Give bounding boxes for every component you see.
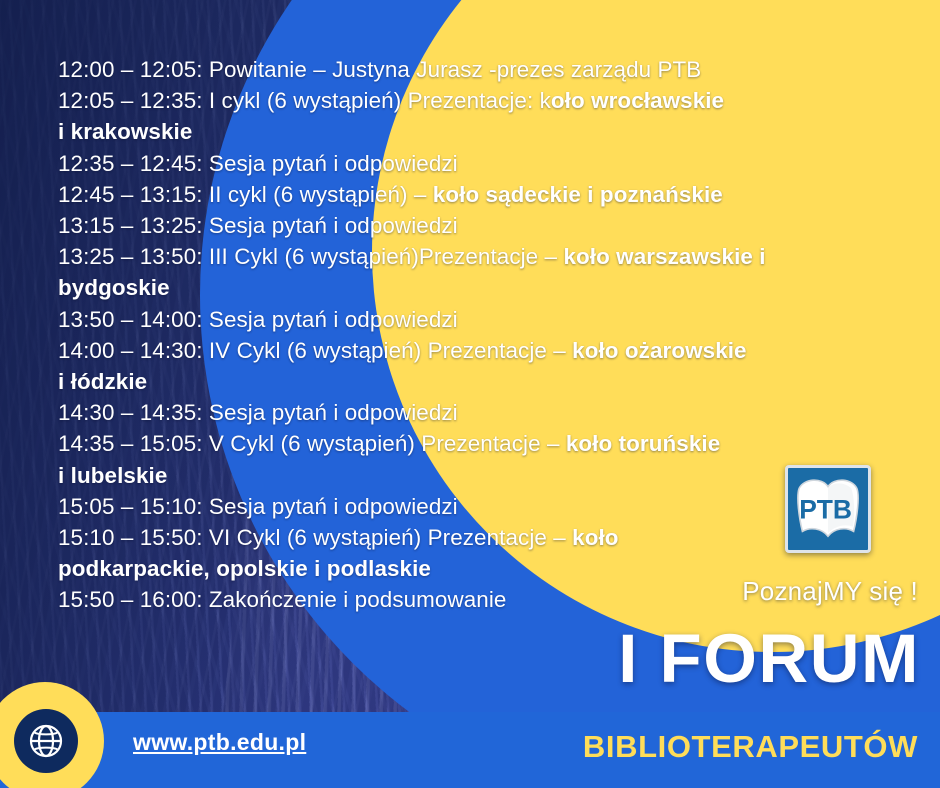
schedule-line: 12:00 – 12:05: Powitanie – Justyna Juras… [58, 54, 903, 85]
schedule-line: i łódzkie [58, 366, 903, 397]
schedule-line: 14:35 – 15:05: V Cykl (6 wystąpień) Prez… [58, 428, 903, 459]
schedule-time: 12:00 – 12:05: [58, 57, 209, 82]
schedule-time: 13:15 – 13:25: [58, 213, 209, 238]
schedule-time: 12:45 – 13:15: [58, 182, 209, 207]
schedule-line: 13:15 – 13:25: Sesja pytań i odpowiedzi [58, 210, 903, 241]
schedule-highlight: bydgoskie [58, 275, 170, 300]
schedule-line: i lubelskie [58, 460, 903, 491]
globe-icon [14, 709, 78, 773]
schedule-highlight: koło ożarowskie [572, 338, 746, 363]
schedule-line: 14:00 – 14:30: IV Cykl (6 wystąpień) Pre… [58, 335, 903, 366]
schedule-time: 15:10 – 15:50: [58, 525, 209, 550]
event-title: I FORUM [618, 624, 920, 693]
schedule-time: 15:05 – 15:10: [58, 494, 209, 519]
schedule-description: III Cykl (6 wystąpień)Prezentacje – [209, 244, 564, 269]
schedule-highlight: i łódzkie [58, 369, 147, 394]
schedule-time: 13:50 – 14:00: [58, 307, 209, 332]
schedule-description: Sesja pytań i odpowiedzi [209, 151, 458, 176]
event-subtitle: BIBLIOTERAPEUTÓW [583, 729, 918, 765]
website-link[interactable]: www.ptb.edu.pl [133, 729, 306, 756]
schedule-description: Sesja pytań i odpowiedzi [209, 400, 458, 425]
schedule-highlight: oło wrocławskie [551, 88, 724, 113]
schedule-highlight: koło sądeckie i poznańskie [433, 182, 723, 207]
schedule-description: I cykl (6 wystąpień) Prezentacje: k [209, 88, 551, 113]
schedule-time: 14:00 – 14:30: [58, 338, 209, 363]
schedule-description: V Cykl (6 wystąpień) Prezentacje – [209, 431, 566, 456]
schedule-time: 13:25 – 13:50: [58, 244, 209, 269]
schedule-time: 14:30 – 14:35: [58, 400, 209, 425]
schedule-time: 12:05 – 12:35: [58, 88, 209, 113]
schedule-highlight: koło warszawskie i [563, 244, 765, 269]
schedule-line: 14:30 – 14:35: Sesja pytań i odpowiedzi [58, 397, 903, 428]
event-poster: 12:00 – 12:05: Powitanie – Justyna Juras… [0, 0, 940, 788]
schedule-highlight: i lubelskie [58, 463, 167, 488]
schedule-line: 12:05 – 12:35: I cykl (6 wystąpień) Prez… [58, 85, 903, 116]
schedule-line: 12:35 – 12:45: Sesja pytań i odpowiedzi [58, 148, 903, 179]
schedule-highlight: koło [572, 525, 618, 550]
schedule-time: 14:35 – 15:05: [58, 431, 209, 456]
schedule-line: 13:50 – 14:00: Sesja pytań i odpowiedzi [58, 304, 903, 335]
schedule-description: Powitanie – Justyna Jurasz -prezes zarzą… [209, 57, 701, 82]
tagline: PoznajMY się ! [742, 576, 918, 607]
schedule-list: 12:00 – 12:05: Powitanie – Justyna Juras… [58, 54, 903, 616]
schedule-description: VI Cykl (6 wystąpień) Prezentacje – [209, 525, 572, 550]
schedule-line: i krakowskie [58, 116, 903, 147]
schedule-highlight: podkarpackie, opolskie i podlaskie [58, 556, 431, 581]
schedule-line: 15:10 – 15:50: VI Cykl (6 wystąpień) Pre… [58, 522, 903, 553]
schedule-description: Sesja pytań i odpowiedzi [209, 494, 458, 519]
schedule-time: 15:50 – 16:00: [58, 587, 209, 612]
schedule-description: IV Cykl (6 wystąpień) Prezentacje – [209, 338, 572, 363]
schedule-highlight: koło toruńskie [566, 431, 720, 456]
schedule-description: Sesja pytań i odpowiedzi [209, 307, 458, 332]
schedule-line: 13:25 – 13:50: III Cykl (6 wystąpień)Pre… [58, 241, 903, 272]
ptb-logo-text: PTB [799, 495, 852, 525]
schedule-highlight: i krakowskie [58, 119, 192, 144]
schedule-line: bydgoskie [58, 272, 903, 303]
schedule-line: 15:05 – 15:10: Sesja pytań i odpowiedzi [58, 491, 903, 522]
schedule-time: 12:35 – 12:45: [58, 151, 209, 176]
schedule-description: II cykl (6 wystąpień) – [209, 182, 433, 207]
schedule-description: Zakończenie i podsumowanie [209, 587, 507, 612]
schedule-line: 12:45 – 13:15: II cykl (6 wystąpień) – k… [58, 179, 903, 210]
ptb-logo: PTB [785, 465, 871, 553]
schedule-description: Sesja pytań i odpowiedzi [209, 213, 458, 238]
